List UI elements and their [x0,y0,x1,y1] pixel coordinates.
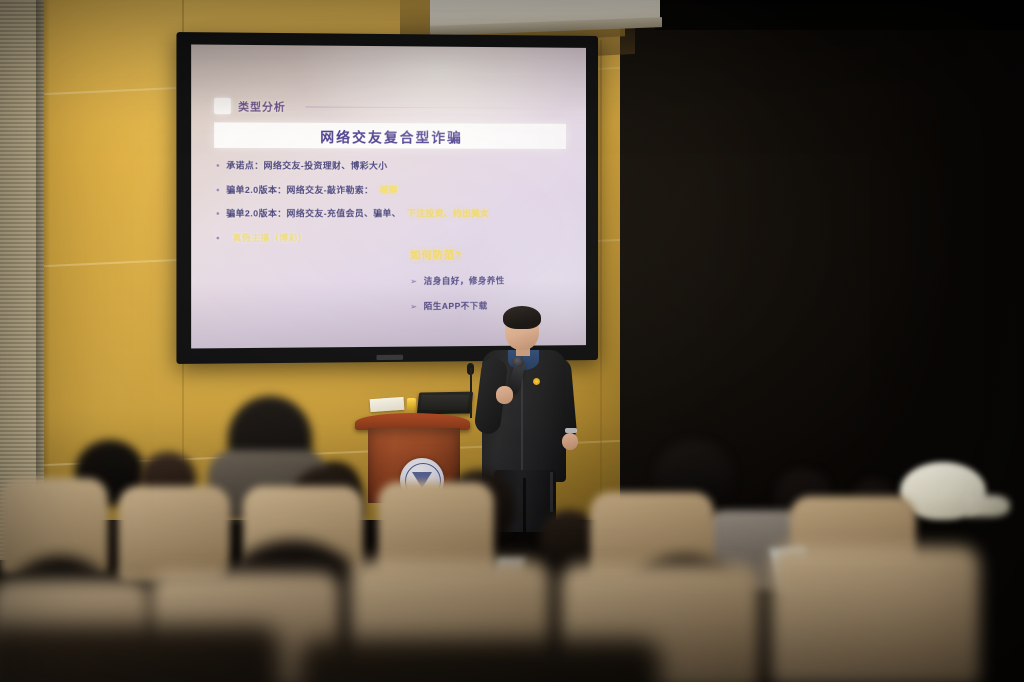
auditorium-seat [300,640,660,682]
projection-screen-surface: 类型分析 网络交友复合型诈骗 • 承诺点：网络交友-投资理财、博彩大小 • 骗单… [191,44,586,348]
square-marker-icon [214,98,231,114]
slide-bullet: • 真假主播（博彩） [216,231,570,244]
bullet-marker: • [216,233,220,242]
bullet-marker: • [216,209,220,218]
trouser-stripe [550,472,553,512]
bullet-marker: • [216,185,220,194]
defense-item-text: 陌生APP不下载 [424,300,488,312]
podium-small-object [407,398,416,410]
slide-kicker-label: 类型分析 [238,98,286,114]
arrow-marker-icon: ➢ [410,277,417,286]
arrow-marker-icon: ➢ [410,302,417,311]
auditorium-seat [118,486,230,582]
auditorium-seat [770,546,980,682]
trouser-split [523,478,526,532]
speaker-left-hand [496,386,513,404]
slide-bullet: • 承诺点：网络交友-投资理财、博彩大小 [216,159,570,172]
slide-defense-block: 如何防范? ➢ 洁身自好，修身养性 ➢ 陌生APP不下载 [410,246,504,325]
bullet-marker: • [216,161,220,170]
microphone-stand [470,368,472,418]
slide-title: 网络交友复合型诈骗 [320,125,463,146]
slide-kicker-rule [305,106,559,108]
screen-brand-logo [376,355,403,360]
bullet-text: 骗单2.0版本：网络交友-敲诈勒索： [226,183,373,195]
cap-brim [966,495,1010,517]
slide-bullet-list: • 承诺点：网络交友-投资理财、博彩大小 • 骗单2.0版本：网络交友-敲诈勒索… [216,159,570,255]
defense-item-text: 洁身自好，修身养性 [424,274,505,286]
ceiling-dark-band [655,0,1024,30]
slide-bullet: • 骗单2.0版本：网络交友-充值会员、骗单、 下注投资、约出美女 [216,207,570,219]
bullet-highlight: 真假主播（博彩） [232,231,307,243]
slide-kicker: 类型分析 [214,98,286,115]
podium-papers [370,397,405,412]
speaker-hair [503,306,541,329]
bullet-highlight: 下注投资、约出美女 [407,207,489,219]
defense-item: ➢ 陌生APP不下载 [410,300,504,313]
panel-shadow [36,0,50,560]
lecture-hall-photo: 类型分析 网络交友复合型诈骗 • 承诺点：网络交友-投资理财、博彩大小 • 骗单… [0,0,1024,682]
auditorium-seat [0,626,280,682]
bullet-highlight: 裸聊 [379,183,397,195]
defense-heading: 如何防范? [410,246,504,261]
podium-laptop-screen [420,395,469,410]
defense-item: ➢ 洁身自好，修身养性 [410,274,504,287]
wall-seam-vertical [600,40,602,510]
bullet-text: 承诺点：网络交友-投资理财、博彩大小 [226,159,387,172]
lapel-badge-icon [533,378,540,385]
slide-title-band: 网络交友复合型诈骗 [214,122,566,149]
speaker-right-hand [562,433,578,450]
presentation-slide: 类型分析 网络交友复合型诈骗 • 承诺点：网络交友-投资理财、博彩大小 • 骗单… [191,44,586,348]
bullet-text: 骗单2.0版本：网络交友-充值会员、骗单、 [226,207,401,219]
slide-bullet: • 骗单2.0版本：网络交友-敲诈勒索： 裸聊 [216,183,570,195]
